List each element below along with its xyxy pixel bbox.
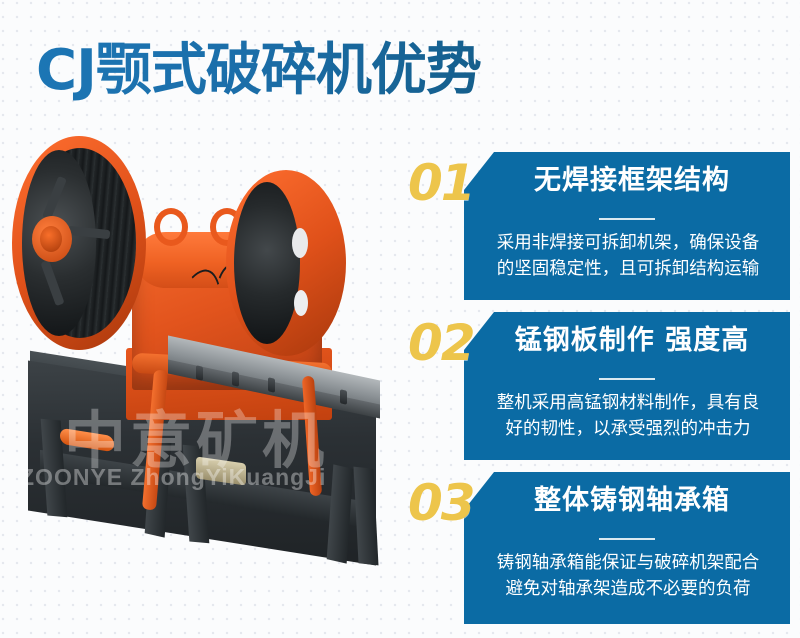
feature-item-03: 03 整体铸钢轴承箱 铸钢轴承箱能保证与破碎机架配合 避免对轴承架造成不必要的负…	[404, 472, 790, 624]
machine-bolt	[268, 377, 275, 392]
feature-description: 整机采用高锰钢材料制作，具有良 好的韧性，以承受强烈的冲击力	[476, 390, 780, 442]
feature-divider	[599, 538, 655, 540]
feature-description-line: 避免对轴承架造成不必要的负荷	[476, 576, 780, 602]
feature-description-line: 好的韧性，以承受强烈的冲击力	[476, 416, 780, 442]
feature-number: 02	[408, 314, 474, 372]
feature-divider	[599, 378, 655, 380]
machine-flywheel-right-face	[234, 182, 300, 344]
feature-description-line: 铸钢轴承箱能保证与破碎机架配合	[476, 550, 780, 576]
feature-description: 铸钢轴承箱能保证与破碎机架配合 避免对轴承架造成不必要的负荷	[476, 550, 780, 602]
poster-root: CJ颚式破碎机优势	[0, 0, 800, 638]
machine-flywheel-hub-center	[40, 226, 62, 252]
feature-item-02: 02 锰钢板制作 强度高 整机采用高锰钢材料制作，具有良 好的韧性，以承受强烈的…	[404, 312, 790, 460]
machine-lifting-eye	[154, 208, 188, 246]
feature-description-line: 采用非焊接可拆卸机架，确保设备	[476, 230, 780, 256]
title-area: CJ颚式破碎机优势	[36, 28, 636, 114]
feature-heading: 无焊接框架结构	[482, 158, 782, 204]
machine-bolt	[340, 389, 347, 404]
feature-item-01: 01 无焊接框架结构 采用非焊接可拆卸机架，确保设备 的坚固稳定性，且可拆卸结构…	[404, 152, 790, 300]
feature-number: 01	[408, 154, 474, 212]
feature-description-line: 整机采用高锰钢材料制作，具有良	[476, 390, 780, 416]
machine-flywheel-hole	[292, 228, 308, 258]
feature-number: 03	[408, 474, 474, 532]
feature-description: 采用非焊接可拆卸机架，确保设备 的坚固稳定性，且可拆卸结构运输	[476, 230, 780, 282]
product-image-jaw-crusher: 中意矿机 ZOONYE ZhongYiKuangJi	[0, 120, 400, 638]
feature-description-line: 的坚固稳定性，且可拆卸结构运输	[476, 256, 780, 282]
page-title: CJ颚式破碎机优势	[36, 28, 636, 114]
feature-heading: 整体铸钢轴承箱	[482, 478, 782, 524]
machine-flywheel-hole	[294, 290, 308, 316]
feature-divider	[599, 218, 655, 220]
feature-heading: 锰钢板制作 强度高	[482, 318, 782, 364]
